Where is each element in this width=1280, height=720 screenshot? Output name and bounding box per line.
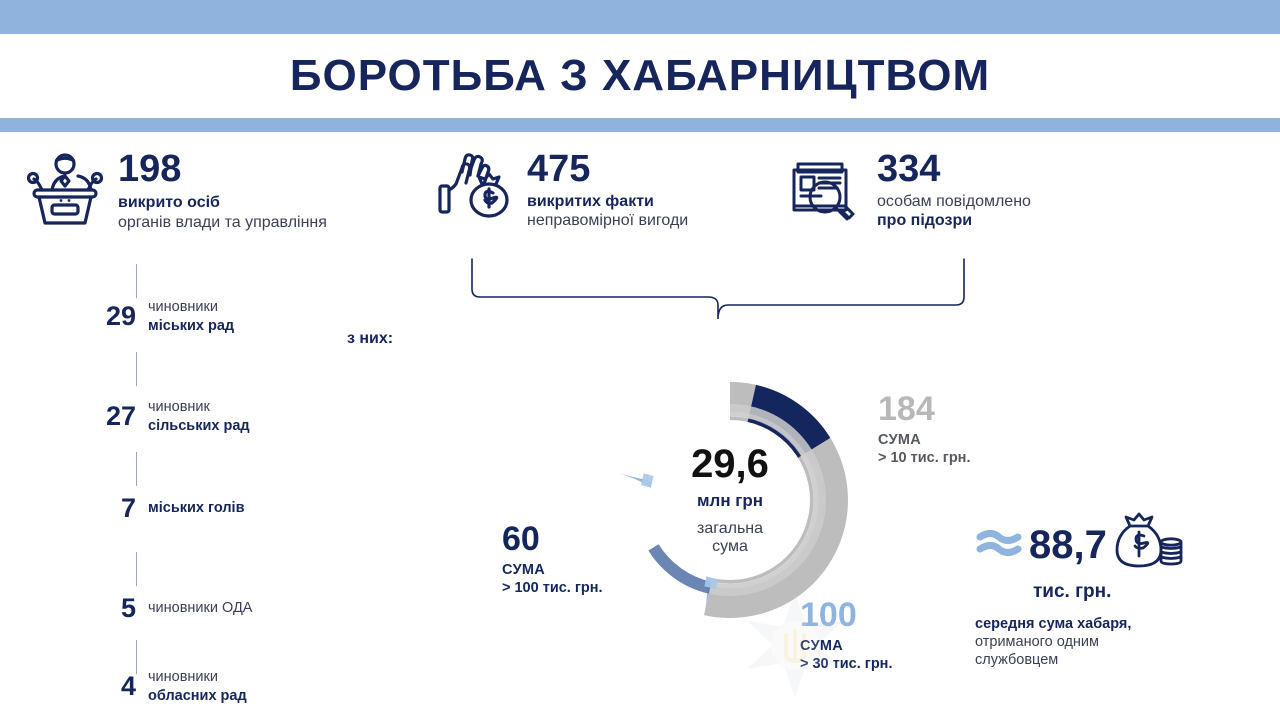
- donut-callout-100-line2: > 30 тис. грн.: [800, 656, 892, 672]
- average-desc-3: службовцем: [975, 652, 1275, 668]
- approx-equal-icon: [975, 527, 1023, 562]
- donut-callout-60-number: 60: [502, 522, 603, 556]
- connector-tick: [136, 352, 137, 386]
- brace-label-wrap: з них:: [0, 330, 1280, 348]
- left-item-line2: обласних рад: [148, 687, 247, 706]
- podium-speaker-icon: [22, 150, 108, 230]
- grouping-brace: [470, 255, 970, 325]
- stat-number-334: 334: [877, 150, 1031, 188]
- left-item-line1: чиновники: [148, 298, 234, 317]
- left-headline-block: 198 викрито осіб органів влади та управл…: [22, 150, 327, 232]
- left-item-4: 4 чиновники обласних рад: [78, 668, 247, 705]
- stat-block-334: 334 особам повідомлено про підозри: [785, 150, 1031, 230]
- average-bribe-block: 88,7 тис. грн. середня сума хабаря, отри…: [975, 512, 1275, 668]
- stat-334-line2: про підозри: [877, 212, 1031, 230]
- left-item-7: 7 міських голів: [78, 495, 245, 522]
- donut-center-desc-1: загальна: [697, 520, 763, 538]
- donut-callout-184-line2: > 10 тис. грн.: [878, 450, 970, 466]
- header-band-bottom: [0, 118, 1280, 132]
- left-item-line1: чиновники: [148, 668, 247, 687]
- left-statistics-column: 198 викрито осіб органів влади та управл…: [0, 140, 420, 720]
- stat-block-475: 475 викритих факти неправомірної вигоди: [435, 150, 688, 230]
- donut-center-unit: млн грн: [697, 491, 763, 511]
- left-headline-line1: викрито осіб: [118, 194, 327, 212]
- left-item-line1: чиновник: [148, 398, 250, 417]
- connector-tick: [136, 552, 137, 586]
- stat-475-line2: неправомірної вигоди: [527, 212, 688, 230]
- connector-tick: [136, 452, 137, 486]
- left-item-27: 27 чиновник сільських рад: [78, 398, 250, 435]
- left-item-number: 5: [78, 595, 136, 622]
- donut-callout-60: 60 СУМА > 100 тис. грн.: [502, 522, 603, 596]
- donut-callout-184-line1: СУМА: [878, 432, 970, 448]
- average-desc-2: отриманого одним: [975, 634, 1275, 650]
- page-title: БОРОТЬБА З ХАБАРНИЦТВОМ: [290, 51, 990, 101]
- average-unit: тис. грн.: [1033, 581, 1275, 603]
- connector-tick: [136, 264, 137, 298]
- hand-money-bag-icon: [435, 150, 515, 226]
- left-item-line1: чиновники ОДА: [148, 599, 252, 618]
- donut-center-value: 29,6: [691, 444, 769, 484]
- left-headline-line2: органів влади та управління: [118, 214, 327, 232]
- donut-callout-100-line1: СУМА: [800, 638, 892, 654]
- stat-475-line1: викритих факти: [527, 193, 688, 211]
- left-item-number: 7: [78, 495, 136, 522]
- stat-number-475: 475: [527, 150, 688, 188]
- donut-center-desc-2: сума: [712, 538, 748, 556]
- left-item-number: 27: [78, 403, 136, 430]
- donut-callout-184: 184 СУМА > 10 тис. грн.: [878, 392, 970, 466]
- header-band-top: [0, 0, 1280, 34]
- donut-callout-100-number: 100: [800, 598, 892, 632]
- donut-center-label: 29,6 млн грн загальна сума: [595, 365, 865, 635]
- donut-callout-60-line1: СУМА: [502, 562, 603, 578]
- donut-callout-60-line2: > 100 тис. грн.: [502, 580, 603, 596]
- money-bag-coins-icon: [1113, 512, 1185, 577]
- left-item-5: 5 чиновники ОДА: [78, 595, 252, 622]
- left-headline-number: 198: [118, 150, 327, 188]
- average-desc-1: середня сума хабаря,: [975, 616, 1275, 632]
- donut-callout-184-number: 184: [878, 392, 970, 426]
- document-magnifier-icon: [785, 150, 865, 226]
- brace-label: з них:: [347, 330, 393, 347]
- donut-chart: 29,6 млн грн загальна сума: [595, 365, 865, 635]
- left-item-line2: сільських рад: [148, 417, 250, 436]
- left-item-number: 4: [78, 673, 136, 700]
- left-item-line1: міських голів: [148, 499, 245, 518]
- header-title-strip: БОРОТЬБА З ХАБАРНИЦТВОМ: [0, 34, 1280, 118]
- stat-334-line1: особам повідомлено: [877, 193, 1031, 211]
- left-item-number: 29: [78, 303, 136, 330]
- average-number: 88,7: [1029, 525, 1107, 565]
- donut-callout-100: 100 СУМА > 30 тис. грн.: [800, 598, 892, 672]
